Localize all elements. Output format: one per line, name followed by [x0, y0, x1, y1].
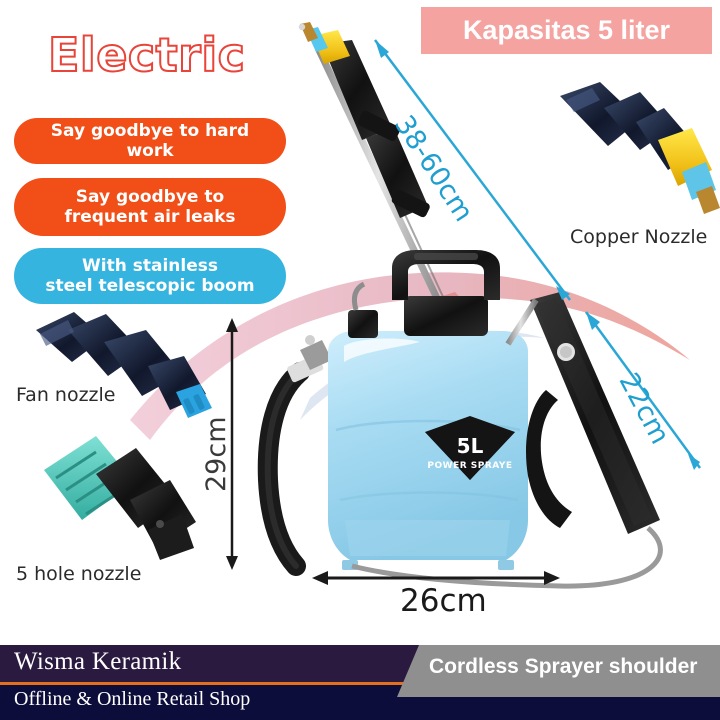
dimension-label-tank-height: 29cm: [201, 416, 232, 492]
arrow-38-60cm: [375, 40, 570, 300]
label-five-hole-nozzle: 5 hole nozzle: [16, 563, 141, 585]
dimension-label-tank-width: 26cm: [400, 583, 487, 619]
svg-text:POWER SPRAYE: POWER SPRAYE: [427, 461, 512, 471]
feature-pill-hard-work: Say goodbye to hard work: [14, 118, 286, 164]
sprayer-tank: [328, 331, 528, 570]
product-illustration: 5L POWER SPRAYE: [0, 0, 720, 720]
brand-tagline: Offline & Online Retail Shop: [14, 688, 250, 711]
copper-nozzle-part: [560, 82, 720, 214]
feature-pill-telescopic-boom: With stainless steel telescopic boom: [14, 248, 286, 304]
footer-bar: Wisma Keramik Offline & Online Retail Sh…: [0, 645, 720, 720]
brand-name: Wisma Keramik: [14, 648, 181, 676]
dimension-label-gun-length: 22cm: [613, 368, 676, 449]
feature-pill-text: With stainless steel telescopic boom: [45, 256, 254, 296]
background-swoosh: [0, 0, 720, 720]
feature-pill-air-leaks: Say goodbye to frequent air leaks: [14, 178, 286, 236]
feature-pill-text: Say goodbye to frequent air leaks: [64, 187, 235, 227]
page-title: Electric: [48, 28, 245, 82]
tank-cap-and-handle: [348, 250, 500, 338]
product-marketing-image: 5L POWER SPRAYE: [0, 0, 720, 720]
feature-pill-line2: steel telescopic boom: [45, 276, 254, 296]
dimension-arrows: [226, 40, 700, 585]
label-copper-nozzle: Copper Nozzle: [570, 226, 707, 248]
feature-pill-line2: frequent air leaks: [64, 207, 235, 227]
footer-product-name: Cordless Sprayer shoulder: [429, 655, 697, 679]
svg-text:5L: 5L: [457, 434, 484, 458]
feature-pill-text: Say goodbye to hard work: [26, 121, 274, 161]
feature-pill-line1: With stainless: [82, 256, 218, 276]
spray-gun-handle: [352, 292, 660, 586]
shoulder-strap: [268, 335, 332, 566]
five-hole-nozzle-part: [44, 436, 196, 560]
tank-badge: 5L POWER SPRAYE: [425, 416, 515, 480]
capacity-banner: Kapasitas 5 liter: [421, 7, 712, 54]
feature-pill-line1: Say goodbye to: [76, 187, 224, 207]
dimension-label-wand-length: 38-60cm: [388, 110, 479, 227]
label-fan-nozzle: Fan nozzle: [16, 384, 116, 406]
